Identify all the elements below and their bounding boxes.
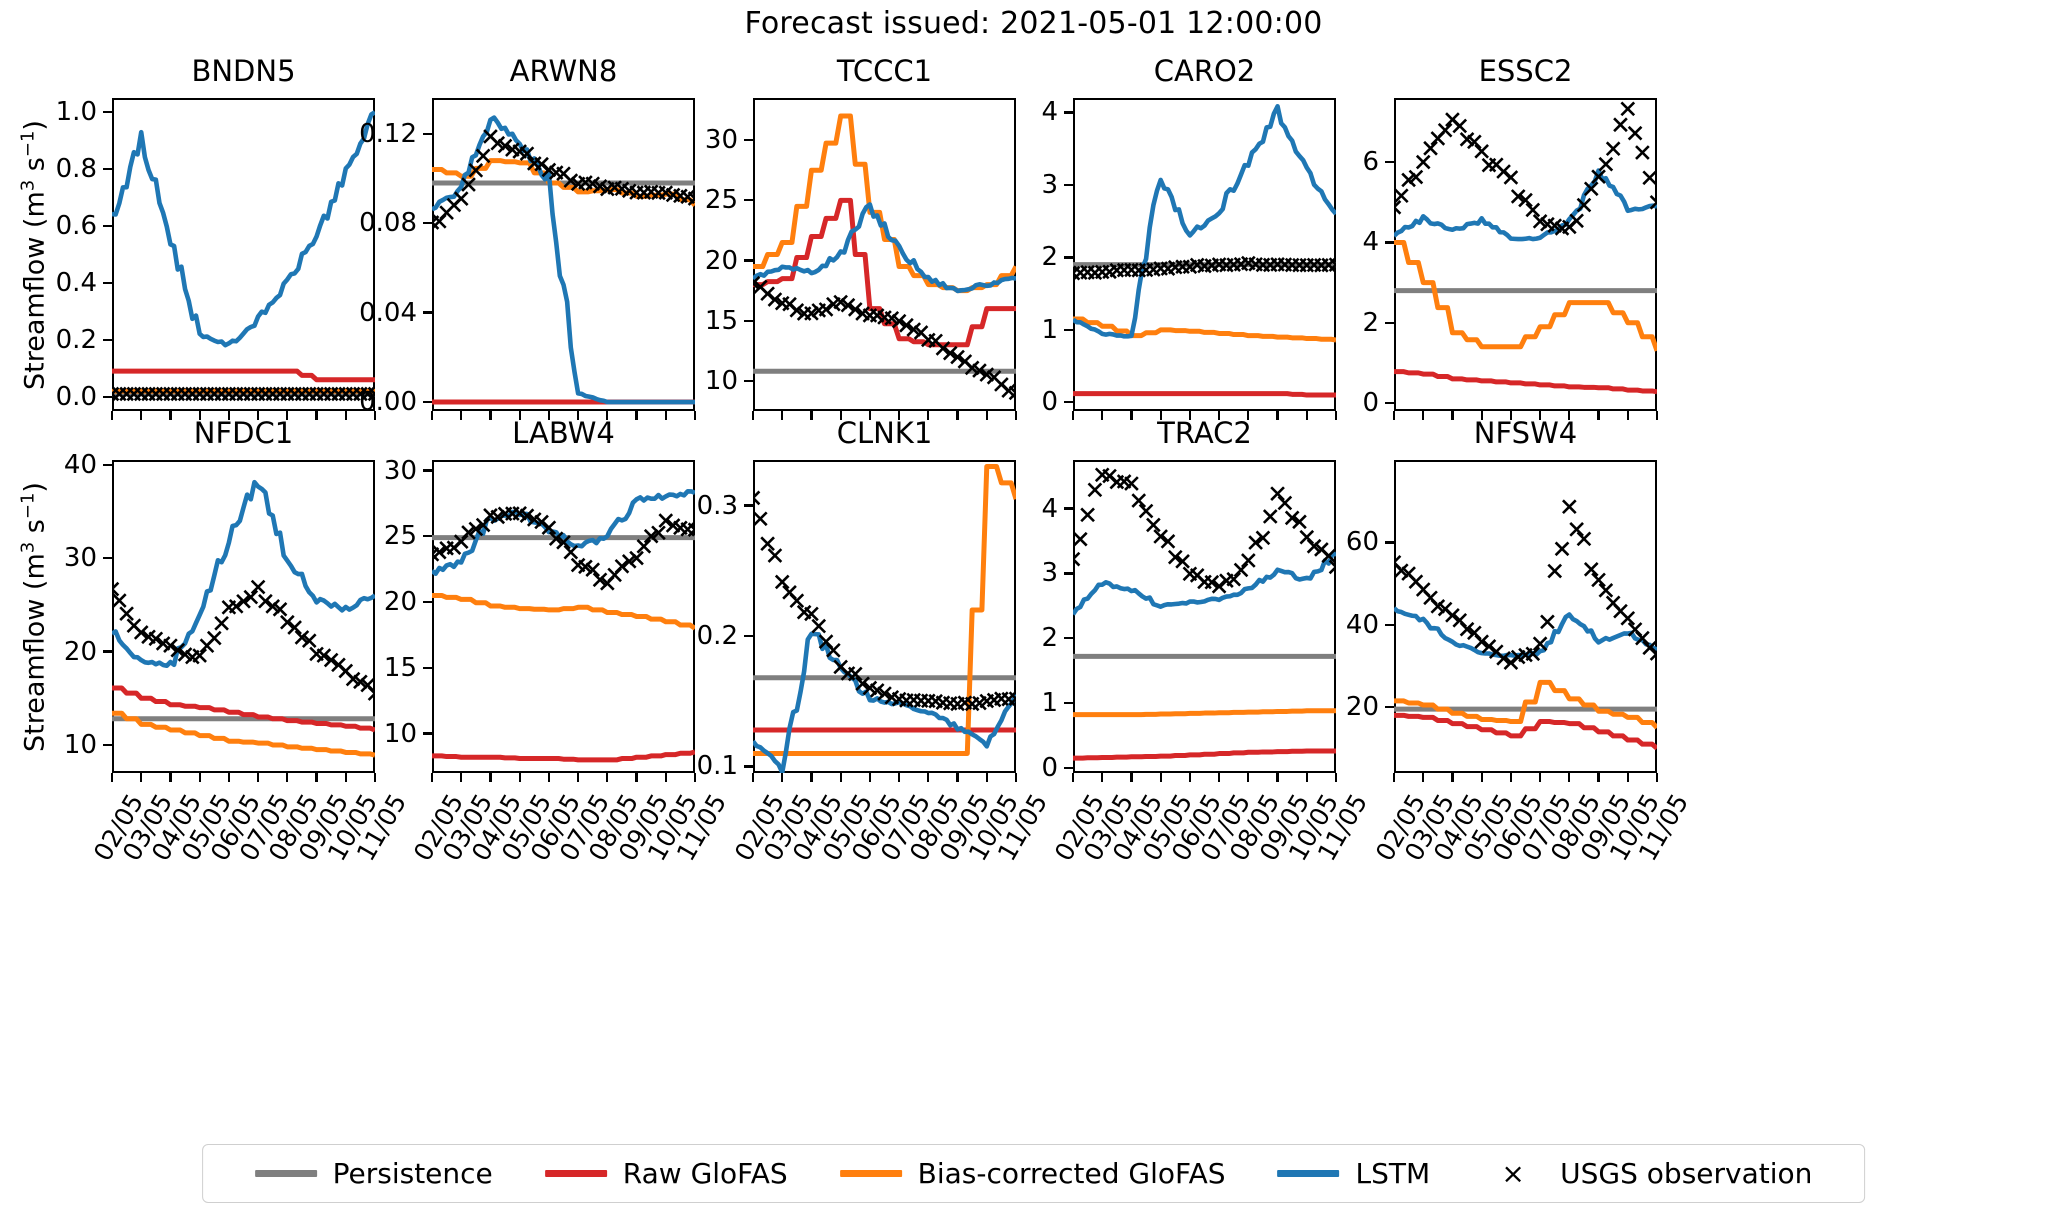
y-tick-mark <box>1064 702 1073 704</box>
x-tick-mark <box>374 773 376 782</box>
legend-item-persistence: Persistence <box>229 1157 519 1190</box>
figure-title: Forecast issued: 2021-05-01 12:00:00 <box>0 6 2067 41</box>
y-tick-label: 1 <box>873 688 1058 718</box>
y-tick-mark <box>744 139 753 141</box>
y-tick-mark <box>1385 541 1394 543</box>
x-tick-mark <box>1539 773 1541 782</box>
x-tick-mark <box>810 773 812 782</box>
y-tick-mark <box>1385 706 1394 708</box>
y-tick-label: 0.2 <box>553 621 738 651</box>
y-tick-mark <box>744 380 753 382</box>
y-tick-mark <box>744 320 753 322</box>
observation-markers <box>1394 102 1657 234</box>
y-tick-label: 0 <box>1194 388 1379 418</box>
series-raw-glofas <box>1394 372 1657 392</box>
x-tick-mark <box>257 773 259 782</box>
y-tick-mark <box>744 504 753 506</box>
x-tick-mark <box>781 773 783 782</box>
legend-label: USGS observation <box>1560 1157 1812 1190</box>
x-tick-mark <box>1481 773 1483 782</box>
y-tick-label: 30 <box>0 543 97 573</box>
series-lstm <box>1073 106 1336 336</box>
y-tick-label: 25 <box>553 185 738 215</box>
legend-line-swatch <box>1278 1170 1340 1177</box>
y-tick-label: 1.0 <box>0 97 97 127</box>
y-tick-label: 0.1 <box>553 751 738 781</box>
legend: PersistenceRaw GloFASBias-corrected GloF… <box>202 1144 1866 1203</box>
y-tick-mark <box>103 557 112 559</box>
x-tick-mark <box>1656 773 1658 782</box>
x-tick-mark <box>1335 773 1337 782</box>
y-tick-mark <box>1385 161 1394 163</box>
series-raw-glofas <box>112 371 375 380</box>
y-tick-mark <box>1064 256 1073 258</box>
y-tick-mark <box>744 259 753 261</box>
panel-title-clnk1: CLNK1 <box>753 416 1016 450</box>
x-tick-mark <box>548 773 550 782</box>
y-tick-mark <box>1385 241 1394 243</box>
y-tick-label: 0.08 <box>232 208 417 238</box>
y-tick-label: 40 <box>1194 610 1379 640</box>
y-tick-label: 4 <box>1194 227 1379 257</box>
series-lstm <box>1073 554 1336 614</box>
plot-canvas-essc2 <box>1394 98 1657 411</box>
y-tick-mark <box>103 650 112 652</box>
panel-nfsw4: NFSW420406002/0503/0504/0505/0506/0507/0… <box>1394 460 1657 773</box>
y-tick-mark <box>423 311 432 313</box>
x-tick-mark <box>228 773 230 782</box>
y-tick-label: 30 <box>232 456 417 486</box>
x-tick-mark <box>752 773 754 782</box>
x-tick-mark <box>1568 773 1570 782</box>
x-tick-mark <box>111 773 113 782</box>
y-tick-label: 25 <box>232 521 417 551</box>
y-tick-label: 4 <box>873 97 1058 127</box>
panel-title-caro2: CARO2 <box>1073 54 1336 88</box>
y-tick-label: 0.8 <box>0 154 97 184</box>
y-tick-label: 6 <box>1194 147 1379 177</box>
series-raw-glofas <box>1073 751 1336 758</box>
y-tick-mark <box>1064 572 1073 574</box>
y-tick-mark <box>1064 184 1073 186</box>
y-tick-mark <box>744 765 753 767</box>
y-tick-mark <box>1385 624 1394 626</box>
y-tick-mark <box>103 744 112 746</box>
y-tick-label: 4 <box>873 494 1058 524</box>
y-tick-mark <box>423 401 432 403</box>
x-tick-mark <box>1627 773 1629 782</box>
legend-line-swatch <box>255 1170 317 1177</box>
y-tick-mark <box>1064 111 1073 113</box>
x-tick-mark <box>1189 773 1191 782</box>
x-tick-mark <box>1160 773 1162 782</box>
y-tick-label: 0 <box>873 387 1058 417</box>
legend-label: Bias-corrected GloFAS <box>918 1157 1226 1190</box>
y-tick-mark <box>103 339 112 341</box>
y-tick-label: 0.3 <box>553 491 738 521</box>
x-tick-mark <box>840 773 842 782</box>
legend-x-marker-icon: × <box>1482 1160 1544 1188</box>
y-tick-mark <box>103 396 112 398</box>
y-tick-label: 0.04 <box>232 298 417 328</box>
x-tick-mark <box>460 773 462 782</box>
y-tick-label: 2 <box>1194 308 1379 338</box>
y-tick-mark <box>423 222 432 224</box>
panel-title-essc2: ESSC2 <box>1394 54 1657 88</box>
x-tick-mark <box>1218 773 1220 782</box>
y-tick-label: 20 <box>232 587 417 617</box>
series-raw-glofas <box>1394 715 1657 748</box>
y-tick-label: 30 <box>553 125 738 155</box>
y-tick-label: 0.0 <box>0 382 97 412</box>
legend-line-swatch <box>840 1170 902 1177</box>
x-tick-mark <box>1101 773 1103 782</box>
x-tick-mark <box>489 773 491 782</box>
y-tick-mark <box>1385 402 1394 404</box>
y-tick-label: 10 <box>232 719 417 749</box>
y-tick-mark <box>744 635 753 637</box>
y-tick-label: 20 <box>0 637 97 667</box>
observation-markers <box>1073 257 1336 280</box>
x-tick-mark <box>1393 773 1395 782</box>
y-tick-mark <box>103 225 112 227</box>
series-lstm <box>1394 171 1657 240</box>
x-tick-mark <box>431 773 433 782</box>
panel-title-labw4: LABW4 <box>432 416 695 450</box>
x-tick-mark <box>1597 773 1599 782</box>
y-tick-mark <box>744 199 753 201</box>
x-tick-mark <box>345 773 347 782</box>
figure-root: Forecast issued: 2021-05-01 12:00:00 Str… <box>0 0 2067 1213</box>
panel-title-arwn8: ARWN8 <box>432 54 695 88</box>
y-tick-mark <box>423 133 432 135</box>
y-tick-mark <box>103 168 112 170</box>
y-tick-label: 2 <box>873 623 1058 653</box>
y-tick-label: 0.2 <box>0 325 97 355</box>
observation-markers <box>1394 500 1657 669</box>
x-tick-mark <box>1451 773 1453 782</box>
y-tick-mark <box>423 601 432 603</box>
y-tick-mark <box>103 464 112 466</box>
panel-title-trac2: TRAC2 <box>1073 416 1336 450</box>
y-tick-mark <box>423 535 432 537</box>
series-bias-corrected-glofas <box>1394 682 1657 727</box>
x-tick-mark <box>1510 773 1512 782</box>
x-tick-mark <box>1276 773 1278 782</box>
legend-item-bias-corrected-glofas: Bias-corrected GloFAS <box>814 1157 1252 1190</box>
panel-title-bndn5: BNDN5 <box>112 54 375 88</box>
y-tick-label: 0.4 <box>0 268 97 298</box>
series-bias-corrected-glofas <box>1394 242 1657 350</box>
y-tick-mark <box>1064 401 1073 403</box>
y-tick-label: 0.00 <box>232 387 417 417</box>
legend-item-lstm: LSTM <box>1252 1157 1457 1190</box>
y-tick-label: 20 <box>553 246 738 276</box>
legend-item-raw-glofas: Raw GloFAS <box>519 1157 814 1190</box>
y-tick-label: 0 <box>873 753 1058 783</box>
y-tick-label: 10 <box>0 730 97 760</box>
panel-title-nfsw4: NFSW4 <box>1394 416 1657 450</box>
x-tick-mark <box>1306 773 1308 782</box>
y-tick-mark <box>1385 322 1394 324</box>
x-tick-mark <box>869 773 871 782</box>
y-tick-label: 1 <box>873 315 1058 345</box>
y-tick-mark <box>1064 507 1073 509</box>
legend-label: Raw GloFAS <box>623 1157 788 1190</box>
y-tick-label: 60 <box>1194 527 1379 557</box>
legend-line-swatch <box>545 1170 607 1177</box>
panel-title-nfdc1: NFDC1 <box>112 416 375 450</box>
x-tick-mark <box>140 773 142 782</box>
x-tick-mark <box>519 773 521 782</box>
x-tick-mark <box>169 773 171 782</box>
panel-essc2: ESSC20246 <box>1394 98 1657 411</box>
legend-item-usgs-observation: ×USGS observation <box>1456 1157 1838 1190</box>
y-tick-mark <box>103 282 112 284</box>
x-tick-mark <box>315 773 317 782</box>
y-tick-label: 2 <box>873 242 1058 272</box>
x-tick-mark <box>286 773 288 782</box>
panel-title-tccc1: TCCC1 <box>753 54 1016 88</box>
y-axis-label-bottom: Streamflow (m3 s−1) <box>18 482 51 752</box>
y-tick-label: 10 <box>553 366 738 396</box>
y-tick-mark <box>1064 329 1073 331</box>
x-tick-mark <box>1072 773 1074 782</box>
legend-label: LSTM <box>1356 1157 1431 1190</box>
y-tick-mark <box>423 732 432 734</box>
y-tick-mark <box>103 111 112 113</box>
y-tick-mark <box>1064 767 1073 769</box>
y-tick-label: 0.12 <box>232 119 417 149</box>
legend-label: Persistence <box>333 1157 493 1190</box>
x-tick-mark <box>1422 773 1424 782</box>
y-tick-mark <box>1064 637 1073 639</box>
y-tick-label: 40 <box>0 450 97 480</box>
x-tick-mark <box>1130 773 1132 782</box>
x-tick-mark <box>1247 773 1249 782</box>
y-tick-label: 3 <box>873 170 1058 200</box>
plot-canvas-nfsw4 <box>1394 460 1657 773</box>
y-tick-mark <box>423 667 432 669</box>
y-tick-label: 3 <box>873 558 1058 588</box>
y-tick-label: 15 <box>232 653 417 683</box>
y-tick-mark <box>423 469 432 471</box>
y-tick-label: 15 <box>553 306 738 336</box>
y-tick-label: 20 <box>1194 692 1379 722</box>
y-tick-label: 0.6 <box>0 211 97 241</box>
x-tick-mark <box>199 773 201 782</box>
